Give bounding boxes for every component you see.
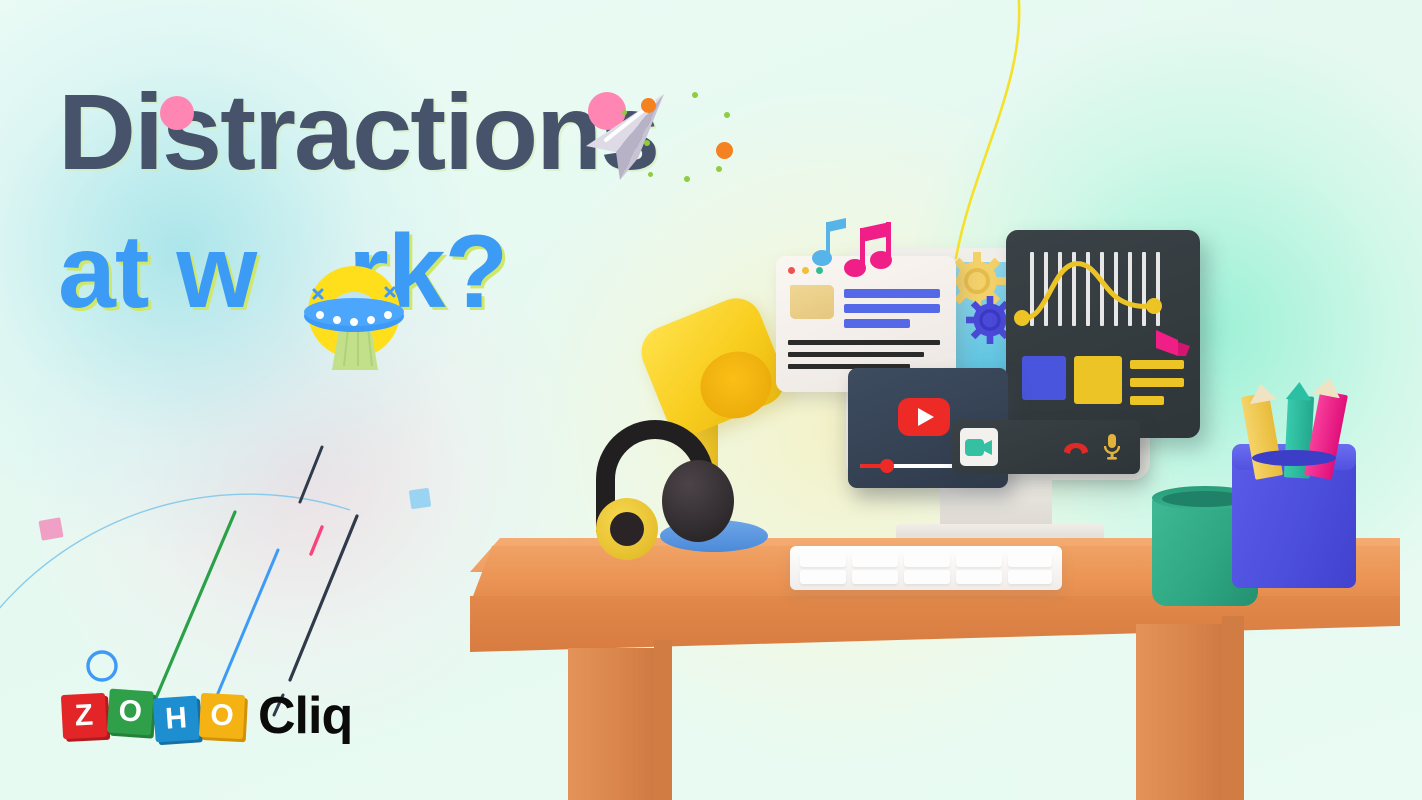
flying-saucer-emoji <box>292 262 416 374</box>
keyboard-key <box>904 553 950 567</box>
zoho-block-o2: O <box>199 693 245 739</box>
traffic-light-yellow <box>802 267 809 274</box>
product-name: Cliq <box>258 690 352 742</box>
swatch-blue <box>1022 356 1066 400</box>
blue-diagonal-line <box>216 550 278 698</box>
keyboard-key <box>956 553 1002 567</box>
zoho-block-z: Z <box>61 693 107 739</box>
desk-leg-right <box>1136 624 1222 800</box>
green-dot <box>648 172 653 177</box>
blue-circle-outline <box>88 652 116 680</box>
video-call-bar[interactable] <box>952 420 1140 474</box>
zoho-block-o1: O <box>107 689 154 736</box>
hangup-phone-icon[interactable] <box>1062 438 1090 456</box>
analytics-chart-card[interactable] <box>1006 230 1200 438</box>
megaphone-icon <box>1152 326 1192 358</box>
green-dot <box>684 176 690 182</box>
pencil-holder-interior <box>1252 450 1336 466</box>
green-diagonal-line <box>153 512 235 705</box>
folder-icon <box>790 285 834 319</box>
navy-diagonal-line-short <box>300 447 322 502</box>
swatch-yellow <box>1074 356 1122 404</box>
pink-circle <box>160 96 194 130</box>
keyboard[interactable] <box>790 546 1062 590</box>
green-dot <box>716 166 722 172</box>
traffic-light-red <box>788 267 795 274</box>
zoho-cliq-logo[interactable]: Z O H O Cliq <box>62 690 352 742</box>
keyboard-key <box>1008 570 1052 584</box>
zoho-blocks: Z O H O <box>62 694 244 738</box>
zoho-block-h: H <box>153 696 200 743</box>
green-dot <box>692 92 698 98</box>
yellow-bar <box>1130 378 1184 387</box>
play-button-icon[interactable] <box>898 398 950 436</box>
keyboard-key <box>904 570 950 584</box>
text-line-blue <box>844 304 940 313</box>
double-music-note-icon <box>844 222 896 286</box>
orange-circle <box>716 142 733 159</box>
keyboard-key <box>800 570 846 584</box>
pink-diagonal-line <box>311 527 322 554</box>
headphone-ear-cup-right <box>662 460 734 542</box>
text-line-blue <box>844 319 910 328</box>
text-line-dark <box>788 340 940 345</box>
text-line-dark <box>788 352 924 357</box>
green-dot <box>724 112 730 118</box>
yellow-bar <box>1130 360 1184 369</box>
yellow-bar <box>1130 396 1164 405</box>
orange-circle <box>641 98 656 113</box>
keyboard-key <box>956 570 1002 584</box>
desk-leg-left <box>568 648 654 800</box>
microphone-icon[interactable] <box>1104 433 1120 461</box>
camera-icon <box>965 439 993 456</box>
desk-leg-right-side <box>1222 616 1244 800</box>
keyboard-key <box>852 553 898 567</box>
green-dot <box>644 140 650 146</box>
progress-handle[interactable] <box>880 459 894 473</box>
poster-canvas: Distractions at wrk? <box>0 0 1422 800</box>
green-dot <box>622 110 627 115</box>
text-line-blue <box>844 289 940 298</box>
desk-leg-left-side <box>654 640 672 800</box>
keyboard-key <box>1008 553 1052 567</box>
headphone-ear-pad-left <box>610 512 644 546</box>
navy-diagonal-line <box>290 516 357 680</box>
keyboard-key <box>800 553 846 567</box>
camera-button[interactable] <box>960 428 998 466</box>
headline-line-2-before: at w <box>58 214 256 330</box>
keyboard-key <box>852 570 898 584</box>
